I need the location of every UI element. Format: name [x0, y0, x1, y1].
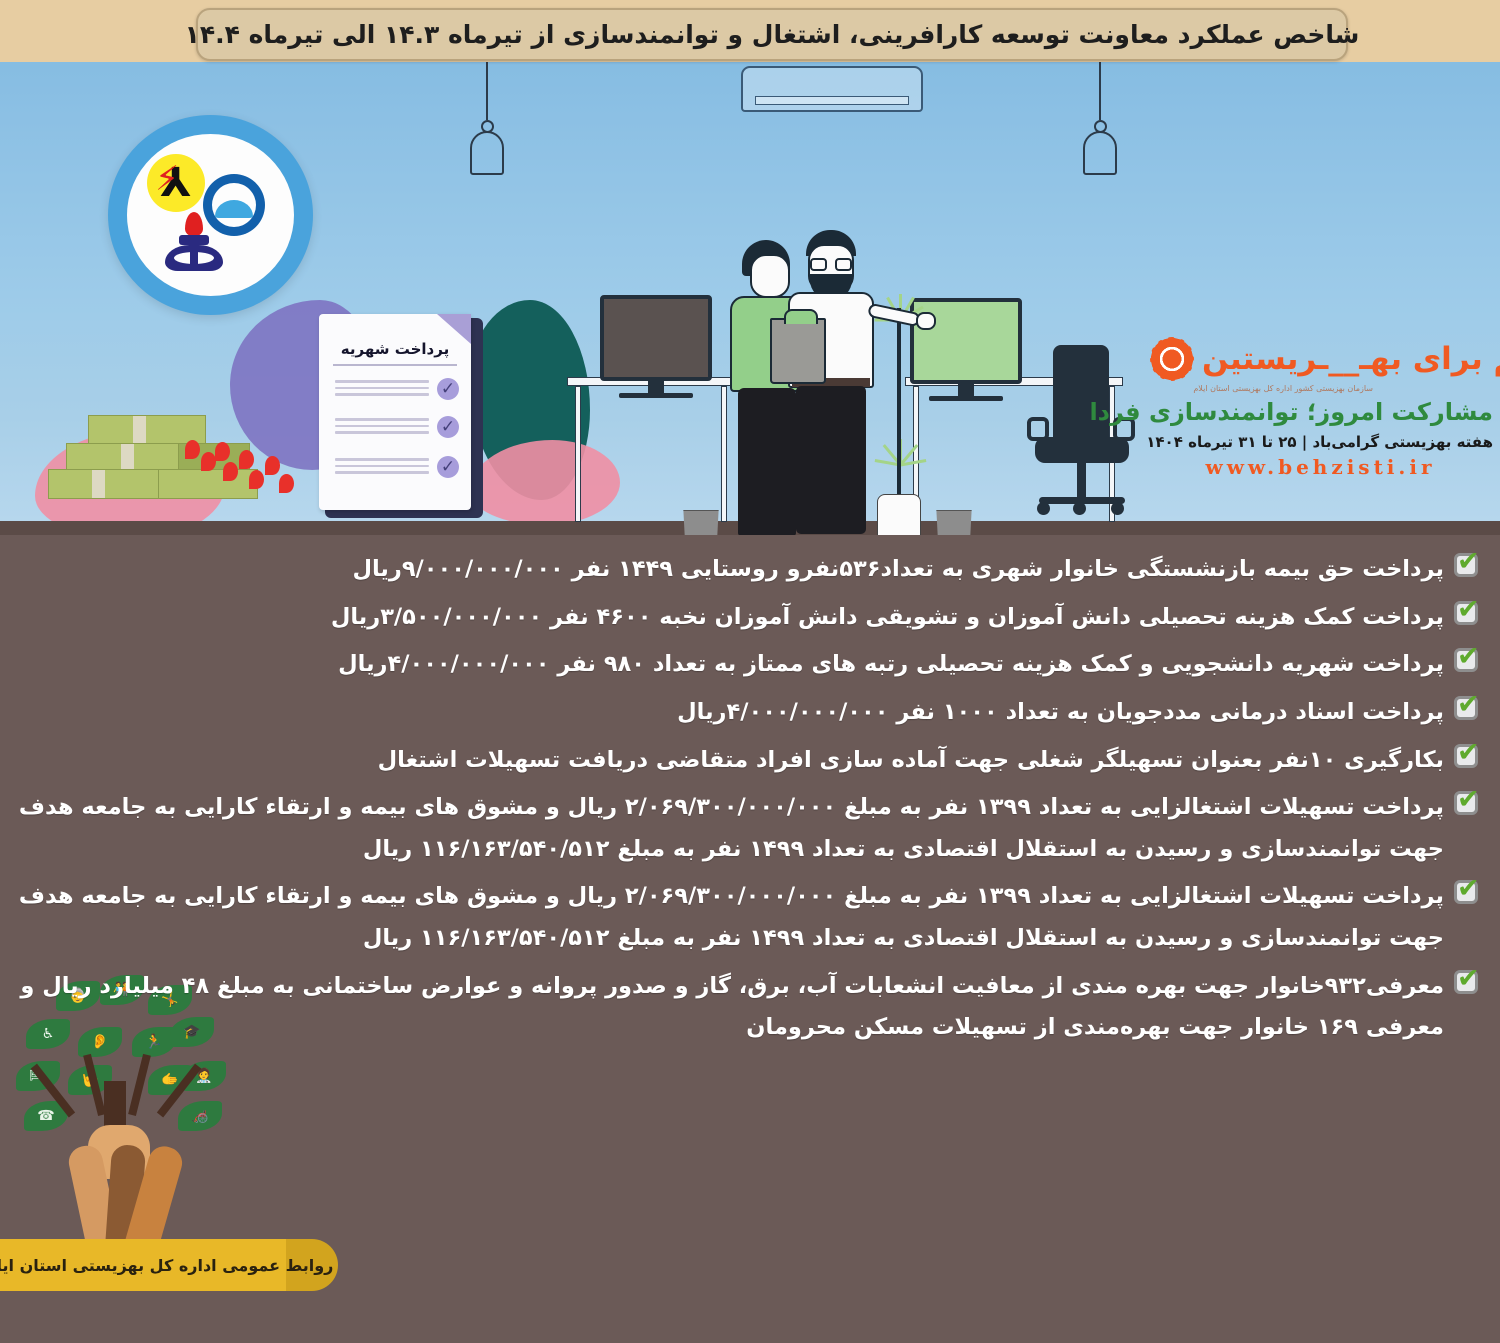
torch-cup [179, 235, 209, 245]
utility-logos-badge: ⅄ ⚡ [108, 115, 313, 315]
gas-torch-icon [163, 212, 225, 274]
clasped-hands [88, 1125, 150, 1179]
page-title-text: شاخص عملکرد معاونت توسعه کارافرینی، اشتغ… [185, 20, 1360, 49]
brand-headline-row: باهم برای بهـ__ـریستین [1148, 335, 1493, 383]
waste-bin-icon [933, 510, 975, 535]
utility-logos-inner: ⅄ ⚡ [127, 134, 294, 296]
list-item: ✔ پرداخت شهریه دانشجویی و کمک هزینه تحصی… [18, 644, 1482, 686]
pendant-lamp-icon [1083, 62, 1117, 175]
list-item-text: بکارگیری ۱۰نفر بعنوان تسهیلگر شغلی جهت آ… [18, 740, 1444, 782]
office-scene-illustration [555, 220, 1175, 535]
brand-organization-name: سازمان بهزیستی کشور اداره کل بهزیستی است… [1148, 384, 1373, 394]
leaf-rehab-icon: 🛏 [16, 1061, 60, 1091]
brand-website-url[interactable]: www.behzisti.ir [1148, 455, 1493, 479]
waste-bin-icon [680, 510, 722, 535]
checkbox-checked-icon: ✔ [1454, 646, 1482, 674]
air-conditioner-icon [741, 66, 923, 112]
banknote-stack [48, 469, 163, 499]
list-item: ✔ معرفی۹۳۲خانوار جهت بهره مندی از معافیت… [18, 966, 1482, 1049]
hero-illustration-panel: شاخص عملکرد معاونت توسعه کارافرینی، اشتغ… [0, 0, 1500, 535]
torch-flame [185, 212, 203, 236]
list-item: ✔ پرداخت حق بیمه بازنشستگی خانوار شهری ب… [18, 549, 1482, 591]
checkbox-checked-icon: ✔ [1454, 789, 1482, 817]
brand-slogan-main: باهم برای بهـ__ـریستین [1202, 343, 1500, 376]
tuition-clipboard: پرداخت شهریه [325, 318, 483, 518]
list-item-text: پرداخت تسهیلات اشتغالزایی به تعداد ۱۳۹۹ … [18, 787, 1444, 870]
ribbon-text: روابط عمومی اداره کل بهزیستی استان ایلام [0, 1256, 333, 1275]
leaf-hotline-1480-icon: ☎ [24, 1101, 68, 1131]
leaf-sign-language-icon: 🤟 [68, 1065, 112, 1095]
torch-base [165, 245, 223, 271]
list-item-text: معرفی۹۳۲خانوار جهت بهره مندی از معافیت ا… [18, 966, 1444, 1049]
clipboard-checklist-row [331, 414, 459, 448]
list-item-text: پرداخت کمک هزینه تحصیلی دانش آموزان و تش… [18, 597, 1444, 639]
list-item: ✔ پرداخت تسهیلات اشتغالزایی به تعداد ۱۳۹… [18, 876, 1482, 959]
leaf-wheelchair-icon: 🦽 [178, 1101, 222, 1131]
leaf-care-icon: 🫱 [148, 1065, 192, 1095]
list-item: ✔ پرداخت اسناد درمانی مددجویان به تعداد … [18, 692, 1482, 734]
list-item: ✔ بکارگیری ۱۰نفر بعنوان تسهیلگر شغلی جهت… [18, 740, 1482, 782]
lamp-shade [470, 131, 504, 175]
eyeglasses-icon [808, 258, 854, 271]
checkbox-checked-icon: ✔ [1454, 551, 1482, 579]
monitor-icon [600, 295, 712, 398]
electricity-pylon-icon: ⅄ ⚡ [147, 154, 205, 212]
paper-bag-icon [770, 318, 826, 384]
infographic-page: شاخص عملکرد معاونت توسعه کارافرینی، اشتغ… [0, 0, 1500, 1343]
achievements-list: 👵 🧑‍🤝‍🧑 🤸 ♿ 👂 🏃 🎓 🛏 🤟 🫱 🧑‍⚕️ ☎ 🦽 [0, 535, 1500, 1343]
list-item-text: پرداخت حق بیمه بازنشستگی خانوار شهری به … [18, 549, 1444, 591]
behzisti-flower-logo-icon [1148, 335, 1196, 383]
pendant-lamp-icon [470, 62, 504, 175]
brand-slogan-secondary: مشارکت امروز؛ توانمندسازی فردا [1148, 398, 1493, 426]
placeholder-lines [335, 418, 429, 438]
decor-red-berries [185, 440, 305, 500]
public-relations-ribbon: روابط عمومی اداره کل بهزیستی استان ایلام [0, 1239, 312, 1291]
list-item-text: پرداخت اسناد درمانی مددجویان به تعداد ۱۰… [18, 692, 1444, 734]
leaf-bed-icon: 🧑‍⚕️ [182, 1061, 226, 1091]
checkbox-checked-icon: ✔ [1454, 878, 1482, 906]
check-circle-icon [437, 378, 459, 400]
two-people-illustration [720, 230, 910, 535]
lamp-cord [486, 62, 488, 120]
tree-branch [157, 1064, 201, 1118]
tree-branch [31, 1064, 75, 1118]
checkbox-checked-icon: ✔ [1454, 694, 1482, 722]
placeholder-lines [335, 380, 429, 400]
lamp-shade [1083, 131, 1117, 175]
checkbox-checked-icon: ✔ [1454, 742, 1482, 770]
check-circle-icon [437, 456, 459, 478]
check-circle-icon [437, 416, 459, 438]
behzisti-brand-block: باهم برای بهـ__ـریستین سازمان بهزیستی کش… [1148, 335, 1493, 535]
tree-trunk [104, 1081, 126, 1169]
placeholder-lines [335, 458, 429, 478]
checkbox-checked-icon: ✔ [1454, 968, 1482, 996]
list-item: ✔ پرداخت تسهیلات اشتغالزایی به تعداد ۱۳۹… [18, 787, 1482, 870]
lamp-cord [1099, 62, 1101, 120]
list-item-text: پرداخت شهریه دانشجویی و کمک هزینه تحصیلی… [18, 644, 1444, 686]
brand-week-note: هفته بهزیستی گرامی‌باد | ۲۵ تا ۳۱ تیرماه… [1148, 433, 1493, 451]
clipboard-sheet: پرداخت شهریه [319, 314, 471, 510]
clipboard-title: پرداخت شهریه [333, 340, 457, 358]
list-item: ✔ پرداخت کمک هزینه تحصیلی دانش آموزان و … [18, 597, 1482, 639]
page-title: شاخص عملکرد معاونت توسعه کارافرینی، اشتغ… [196, 8, 1348, 61]
checkbox-checked-icon: ✔ [1454, 599, 1482, 627]
list-item-text: پرداخت تسهیلات اشتغالزایی به تعداد ۱۳۹۹ … [18, 876, 1444, 959]
tree-branch [128, 1054, 151, 1116]
clipboard-checklist-row [331, 454, 459, 488]
office-chair-icon [1027, 345, 1135, 530]
tree-branch [83, 1054, 106, 1116]
clipboard-divider [333, 364, 457, 366]
clipboard-checklist-row [331, 376, 459, 410]
